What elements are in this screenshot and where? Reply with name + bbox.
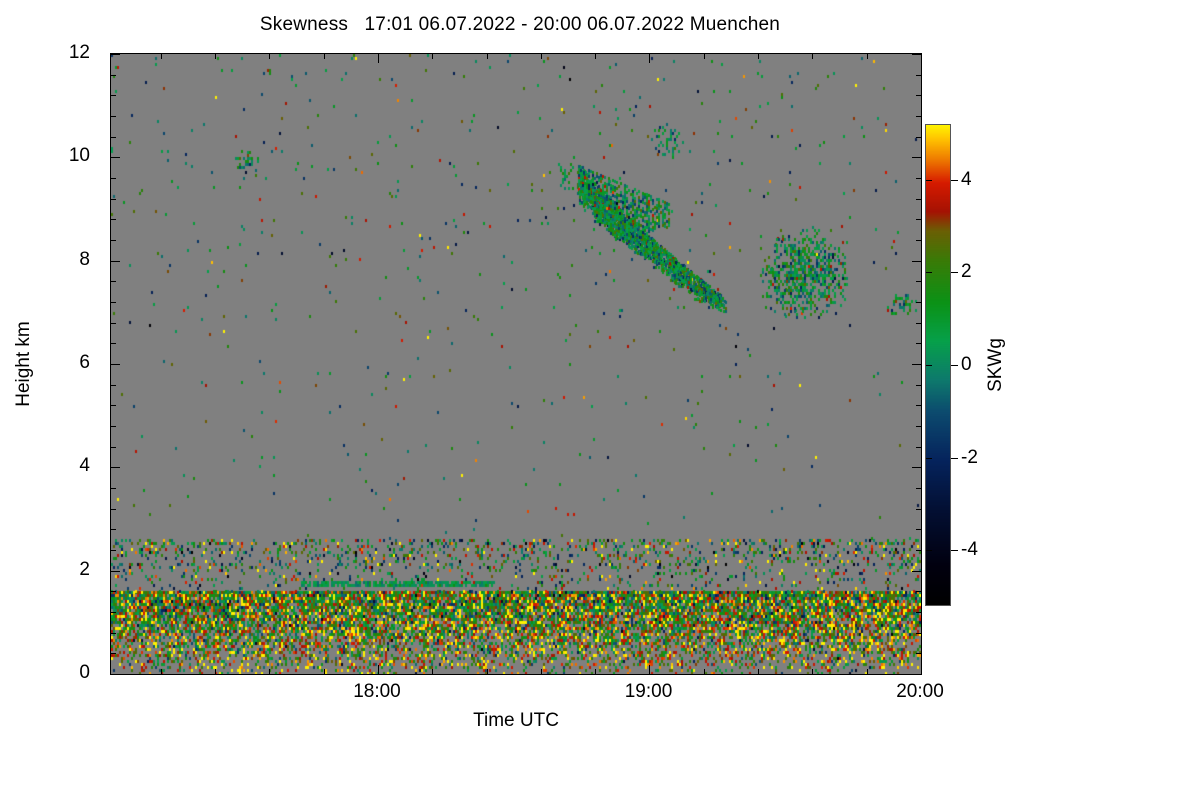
y-axis-tick-minor-right [916,633,921,634]
colorbar-tick-inner [926,458,932,459]
y-axis-tick-minor [111,612,116,613]
colorbar-tick-inner [926,272,932,273]
x-axis-tick-label: 18:00 [353,681,401,703]
y-axis-tick-minor [111,633,116,634]
x-axis-tick-minor [867,669,868,674]
y-axis-tick-minor [111,219,116,220]
x-axis-tick-minor-top [704,54,705,59]
y-axis-tick-label: 12 [0,42,100,64]
x-axis-tick-minor [269,669,270,674]
y-axis-tick-major [111,674,120,675]
x-axis-tick-minor [812,669,813,674]
y-axis-tick-minor [111,529,116,530]
x-axis-tick-minor [758,669,759,674]
colorbar-tick-label: 4 [961,169,972,191]
y-axis-tick-minor-right [916,178,921,179]
y-axis-tick-major [111,261,120,262]
y-axis-tick-minor [111,653,116,654]
y-axis-tick-label: 0 [0,662,100,684]
x-axis-tick-minor-top [432,54,433,59]
y-axis-tick-minor [111,323,116,324]
x-axis-tick-label: 19:00 [625,681,673,703]
y-axis-tick-major-right [912,261,921,262]
y-axis-tick-minor-right [916,95,921,96]
y-axis-tick-major [111,54,120,55]
y-axis-tick-minor-right [916,612,921,613]
x-axis-tick-minor [161,669,162,674]
y-axis-tick-minor-right [916,405,921,406]
y-axis-title: Height km [13,321,35,407]
colorbar-tick-label: -2 [961,447,978,469]
y-axis-tick-minor [111,509,116,510]
y-axis-tick-label: 2 [0,559,100,581]
y-axis-tick-label: 10 [0,145,100,167]
y-axis-tick-minor [111,447,116,448]
x-axis-tick-minor-top [269,54,270,59]
y-axis-tick-major-right [912,571,921,572]
x-axis-tick-minor-top [812,54,813,59]
y-axis-tick-major [111,571,120,572]
x-axis-tick-minor [432,669,433,674]
y-axis-tick-minor-right [916,199,921,200]
colorbar-tick [951,458,958,459]
y-axis-tick-minor-right [916,550,921,551]
y-axis-tick-minor-right [916,426,921,427]
colorbar-tick-label: -4 [961,539,978,561]
colorbar-tick [951,272,958,273]
x-axis-tick-minor [487,669,488,674]
x-axis-title: Time UTC [110,710,922,732]
y-axis-tick-label: 4 [0,455,100,477]
y-axis-tick-minor [111,199,116,200]
colorbar-title: SKWg [985,338,1007,392]
page-title: Skewness 17:01 06.07.2022 - 20:00 06.07.… [0,14,1040,36]
x-axis-tick-major [921,665,922,674]
y-axis-tick-minor [111,550,116,551]
y-axis-tick-minor-right [916,488,921,489]
y-axis-tick-minor [111,240,116,241]
y-axis-tick-minor [111,343,116,344]
figure-canvas: Skewness 17:01 06.07.2022 - 20:00 06.07.… [0,0,1200,800]
y-axis-tick-minor [111,405,116,406]
heatmap-data-layer [111,54,921,674]
y-axis-tick-major [111,467,120,468]
y-axis-tick-minor-right [916,323,921,324]
x-axis-tick-minor [324,669,325,674]
y-axis-tick-minor-right [916,385,921,386]
x-axis-tick-minor [704,669,705,674]
colorbar-tick-inner [926,365,932,366]
y-axis-tick-minor [111,75,116,76]
colorbar-tick-label: 2 [961,261,972,283]
heatmap-plot-area[interactable] [110,53,922,675]
y-axis-tick-minor [111,591,116,592]
y-axis-tick-minor-right [916,240,921,241]
y-axis-tick-major-right [912,157,921,158]
x-axis-tick-major [649,665,650,674]
y-axis-tick-minor-right [916,509,921,510]
y-axis-tick-minor [111,95,116,96]
x-axis-tick-minor-top [487,54,488,59]
x-axis-tick-minor-top [758,54,759,59]
y-axis-tick-minor-right [916,343,921,344]
y-axis-tick-minor [111,178,116,179]
x-axis-tick-minor-top [541,54,542,59]
y-axis-tick-major [111,364,120,365]
y-axis-tick-minor [111,281,116,282]
y-axis-tick-minor [111,385,116,386]
y-axis-tick-major-right [912,467,921,468]
x-axis-tick-minor-top [215,54,216,59]
x-axis-tick-minor-top [595,54,596,59]
y-axis-tick-major-right [912,364,921,365]
colorbar-tick-inner [926,550,932,551]
y-axis-tick-minor [111,426,116,427]
x-axis-tick-major [378,665,379,674]
y-axis-tick-major [111,157,120,158]
y-axis-tick-minor [111,137,116,138]
x-axis-tick-minor-top [867,54,868,59]
y-axis-tick-minor [111,302,116,303]
x-axis-tick-minor-top [161,54,162,59]
colorbar-tick [951,180,958,181]
x-axis-tick-minor [541,669,542,674]
colorbar-tick [951,550,958,551]
x-axis-tick-minor-top [324,54,325,59]
y-axis-tick-minor [111,488,116,489]
y-axis-tick-minor-right [916,529,921,530]
y-axis-tick-minor-right [916,447,921,448]
y-axis-tick-minor-right [916,302,921,303]
y-axis-tick-minor-right [916,75,921,76]
x-axis-tick-minor [215,669,216,674]
y-axis-tick-major-right [912,674,921,675]
colorbar-tick-inner [926,180,932,181]
y-axis-tick-minor-right [916,137,921,138]
x-axis-tick-major-top [649,54,650,63]
colorbar-tick [951,365,958,366]
y-axis-tick-minor [111,116,116,117]
x-axis-tick-major-top [378,54,379,63]
x-axis-tick-minor [595,669,596,674]
y-axis-tick-major-right [912,54,921,55]
y-axis-tick-minor-right [916,281,921,282]
colorbar-tick-label: 0 [961,354,972,376]
y-axis-tick-minor-right [916,219,921,220]
x-axis-tick-major-top [921,54,922,63]
x-axis-tick-label: 20:00 [896,681,944,703]
y-axis-tick-minor-right [916,591,921,592]
y-axis-tick-minor-right [916,116,921,117]
y-axis-tick-label: 8 [0,249,100,271]
y-axis-tick-minor-right [916,653,921,654]
